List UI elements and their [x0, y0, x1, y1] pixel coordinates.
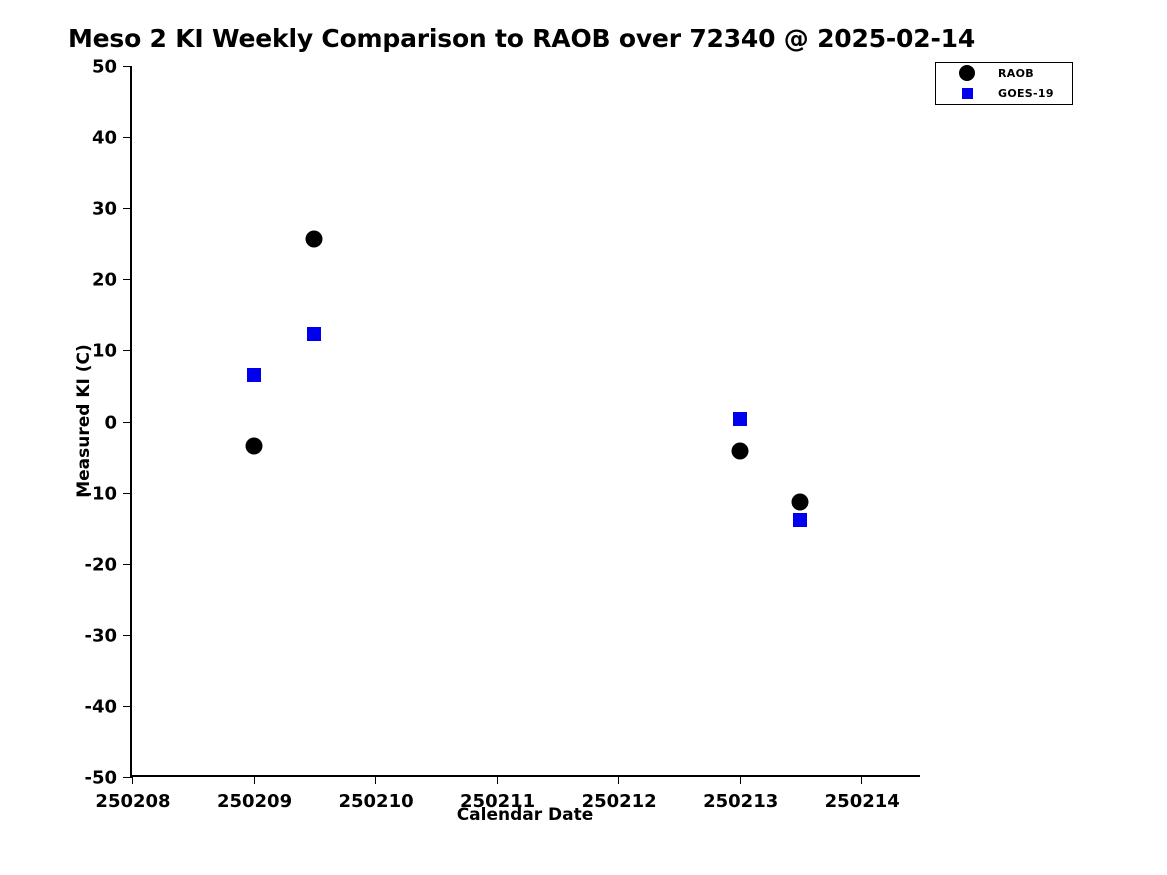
x-tick: 250213: [740, 775, 741, 784]
legend-label: RAOB: [998, 67, 1034, 80]
y-tick-label: 30: [92, 199, 117, 220]
y-tick: 0: [123, 422, 132, 423]
x-tick: 250211: [497, 775, 498, 784]
y-tick: 50: [123, 66, 132, 67]
x-tick: 250212: [618, 775, 619, 784]
chart-title: Meso 2 KI Weekly Comparison to RAOB over…: [0, 24, 1043, 53]
legend-item: GOES-19: [936, 84, 1072, 105]
data-point-goes-19: [247, 368, 261, 382]
chart-figure: Meso 2 KI Weekly Comparison to RAOB over…: [0, 0, 1167, 875]
y-tick: 40: [123, 137, 132, 138]
x-tick: 250208: [132, 775, 133, 784]
x-tick: 250210: [375, 775, 376, 784]
circle-marker-icon: [959, 65, 975, 81]
chart-legend: RAOBGOES-19: [935, 62, 1073, 105]
data-point-goes-19: [733, 412, 747, 426]
y-tick: -30: [123, 635, 132, 636]
y-tick: -20: [123, 564, 132, 565]
data-point-goes-19: [307, 327, 321, 341]
legend-item: RAOB: [936, 63, 1072, 84]
y-tick-label: 50: [92, 57, 117, 78]
y-tick: -40: [123, 706, 132, 707]
data-point-raob: [245, 438, 262, 455]
x-tick: 250209: [254, 775, 255, 784]
plot-area: Measured KI (C) 50403020100-10-20-30-40-…: [130, 66, 920, 777]
legend-marker-box: [936, 88, 998, 99]
square-marker-icon: [962, 88, 973, 99]
data-point-raob: [731, 443, 748, 460]
y-tick-label: -40: [84, 696, 117, 717]
data-point-raob: [306, 231, 323, 248]
y-tick-label: 40: [92, 128, 117, 149]
y-tick-label: -50: [84, 768, 117, 789]
y-tick: 30: [123, 208, 132, 209]
y-tick: 20: [123, 279, 132, 280]
data-point-raob: [792, 493, 809, 510]
y-tick-label: -20: [84, 554, 117, 575]
y-tick-label: 10: [92, 341, 117, 362]
y-tick: -50: [123, 777, 132, 778]
x-tick: 250214: [861, 775, 862, 784]
y-tick-label: 0: [104, 412, 117, 433]
y-tick-label: -10: [84, 483, 117, 504]
legend-marker-box: [936, 65, 998, 81]
legend-label: GOES-19: [998, 87, 1054, 100]
x-axis-label: Calendar Date: [130, 805, 920, 825]
data-point-goes-19: [793, 513, 807, 527]
y-tick-label: 20: [92, 270, 117, 291]
y-tick: 10: [123, 350, 132, 351]
y-tick-label: -30: [84, 625, 117, 646]
y-tick: -10: [123, 493, 132, 494]
y-axis-label: Measured KI (C): [74, 344, 94, 498]
